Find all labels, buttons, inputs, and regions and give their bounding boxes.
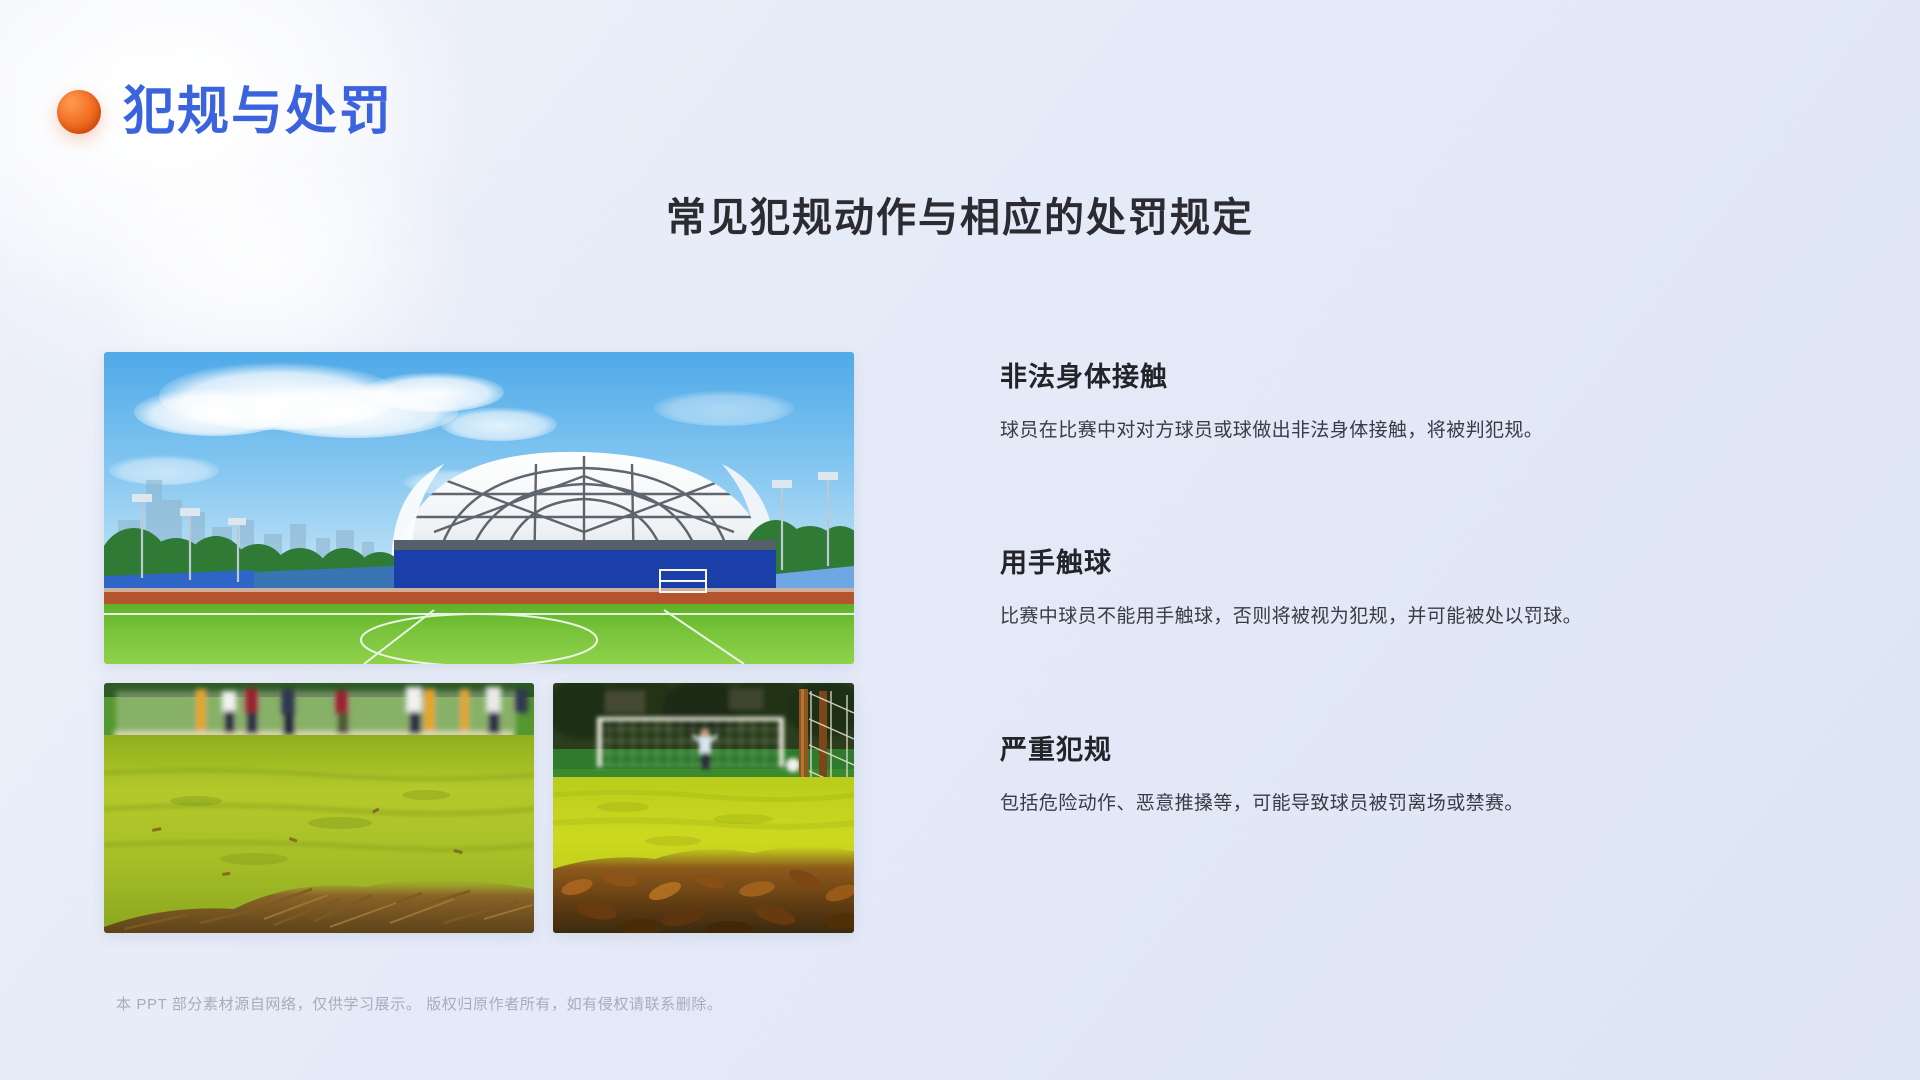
point-description: 包括危险动作、恶意推搡等，可能导致球员被罚离场或禁赛。 bbox=[1000, 789, 1800, 818]
points-list: 非法身体接触 球员在比赛中对对方球员或球做出非法身体接触，将被判犯规。 用手触球… bbox=[1000, 355, 1800, 818]
point-title: 严重犯规 bbox=[1000, 728, 1800, 767]
goalkeeper-field-graphic bbox=[553, 683, 854, 933]
point-item-1: 非法身体接触 球员在比赛中对对方球员或球做出非法身体接触，将被判犯规。 bbox=[1000, 355, 1800, 445]
point-description: 球员在比赛中对对方球员或球做出非法身体接触，将被判犯规。 bbox=[1000, 416, 1800, 445]
orange-sphere-bullet-icon bbox=[57, 90, 101, 134]
stadium-panorama-image bbox=[104, 352, 854, 664]
goalkeeper-field-image bbox=[553, 683, 854, 933]
point-item-3: 严重犯规 包括危险动作、恶意推搡等，可能导致球员被罚离场或禁赛。 bbox=[1000, 728, 1800, 818]
point-title: 非法身体接触 bbox=[1000, 355, 1800, 394]
page-title: 常见犯规动作与相应的处罚规定 bbox=[0, 185, 1920, 243]
point-description: 比赛中球员不能用手触球，否则将被视为犯规，并可能被处以罚球。 bbox=[1000, 602, 1800, 631]
point-title: 用手触球 bbox=[1000, 541, 1800, 580]
header-title: 犯规与处罚 bbox=[123, 86, 393, 138]
point-item-2: 用手触球 比赛中球员不能用手触球，否则将被视为犯规，并可能被处以罚球。 bbox=[1000, 541, 1800, 631]
footer-disclaimer: 本 PPT 部分素材源自网络，仅供学习展示。 版权归原作者所有，如有侵权请联系删… bbox=[116, 993, 723, 1014]
slide-header: 犯规与处罚 bbox=[57, 86, 393, 138]
grass-field-goal-image bbox=[104, 683, 534, 933]
grass-field-goal-graphic bbox=[104, 683, 534, 933]
stadium-panorama-graphic bbox=[104, 352, 854, 664]
